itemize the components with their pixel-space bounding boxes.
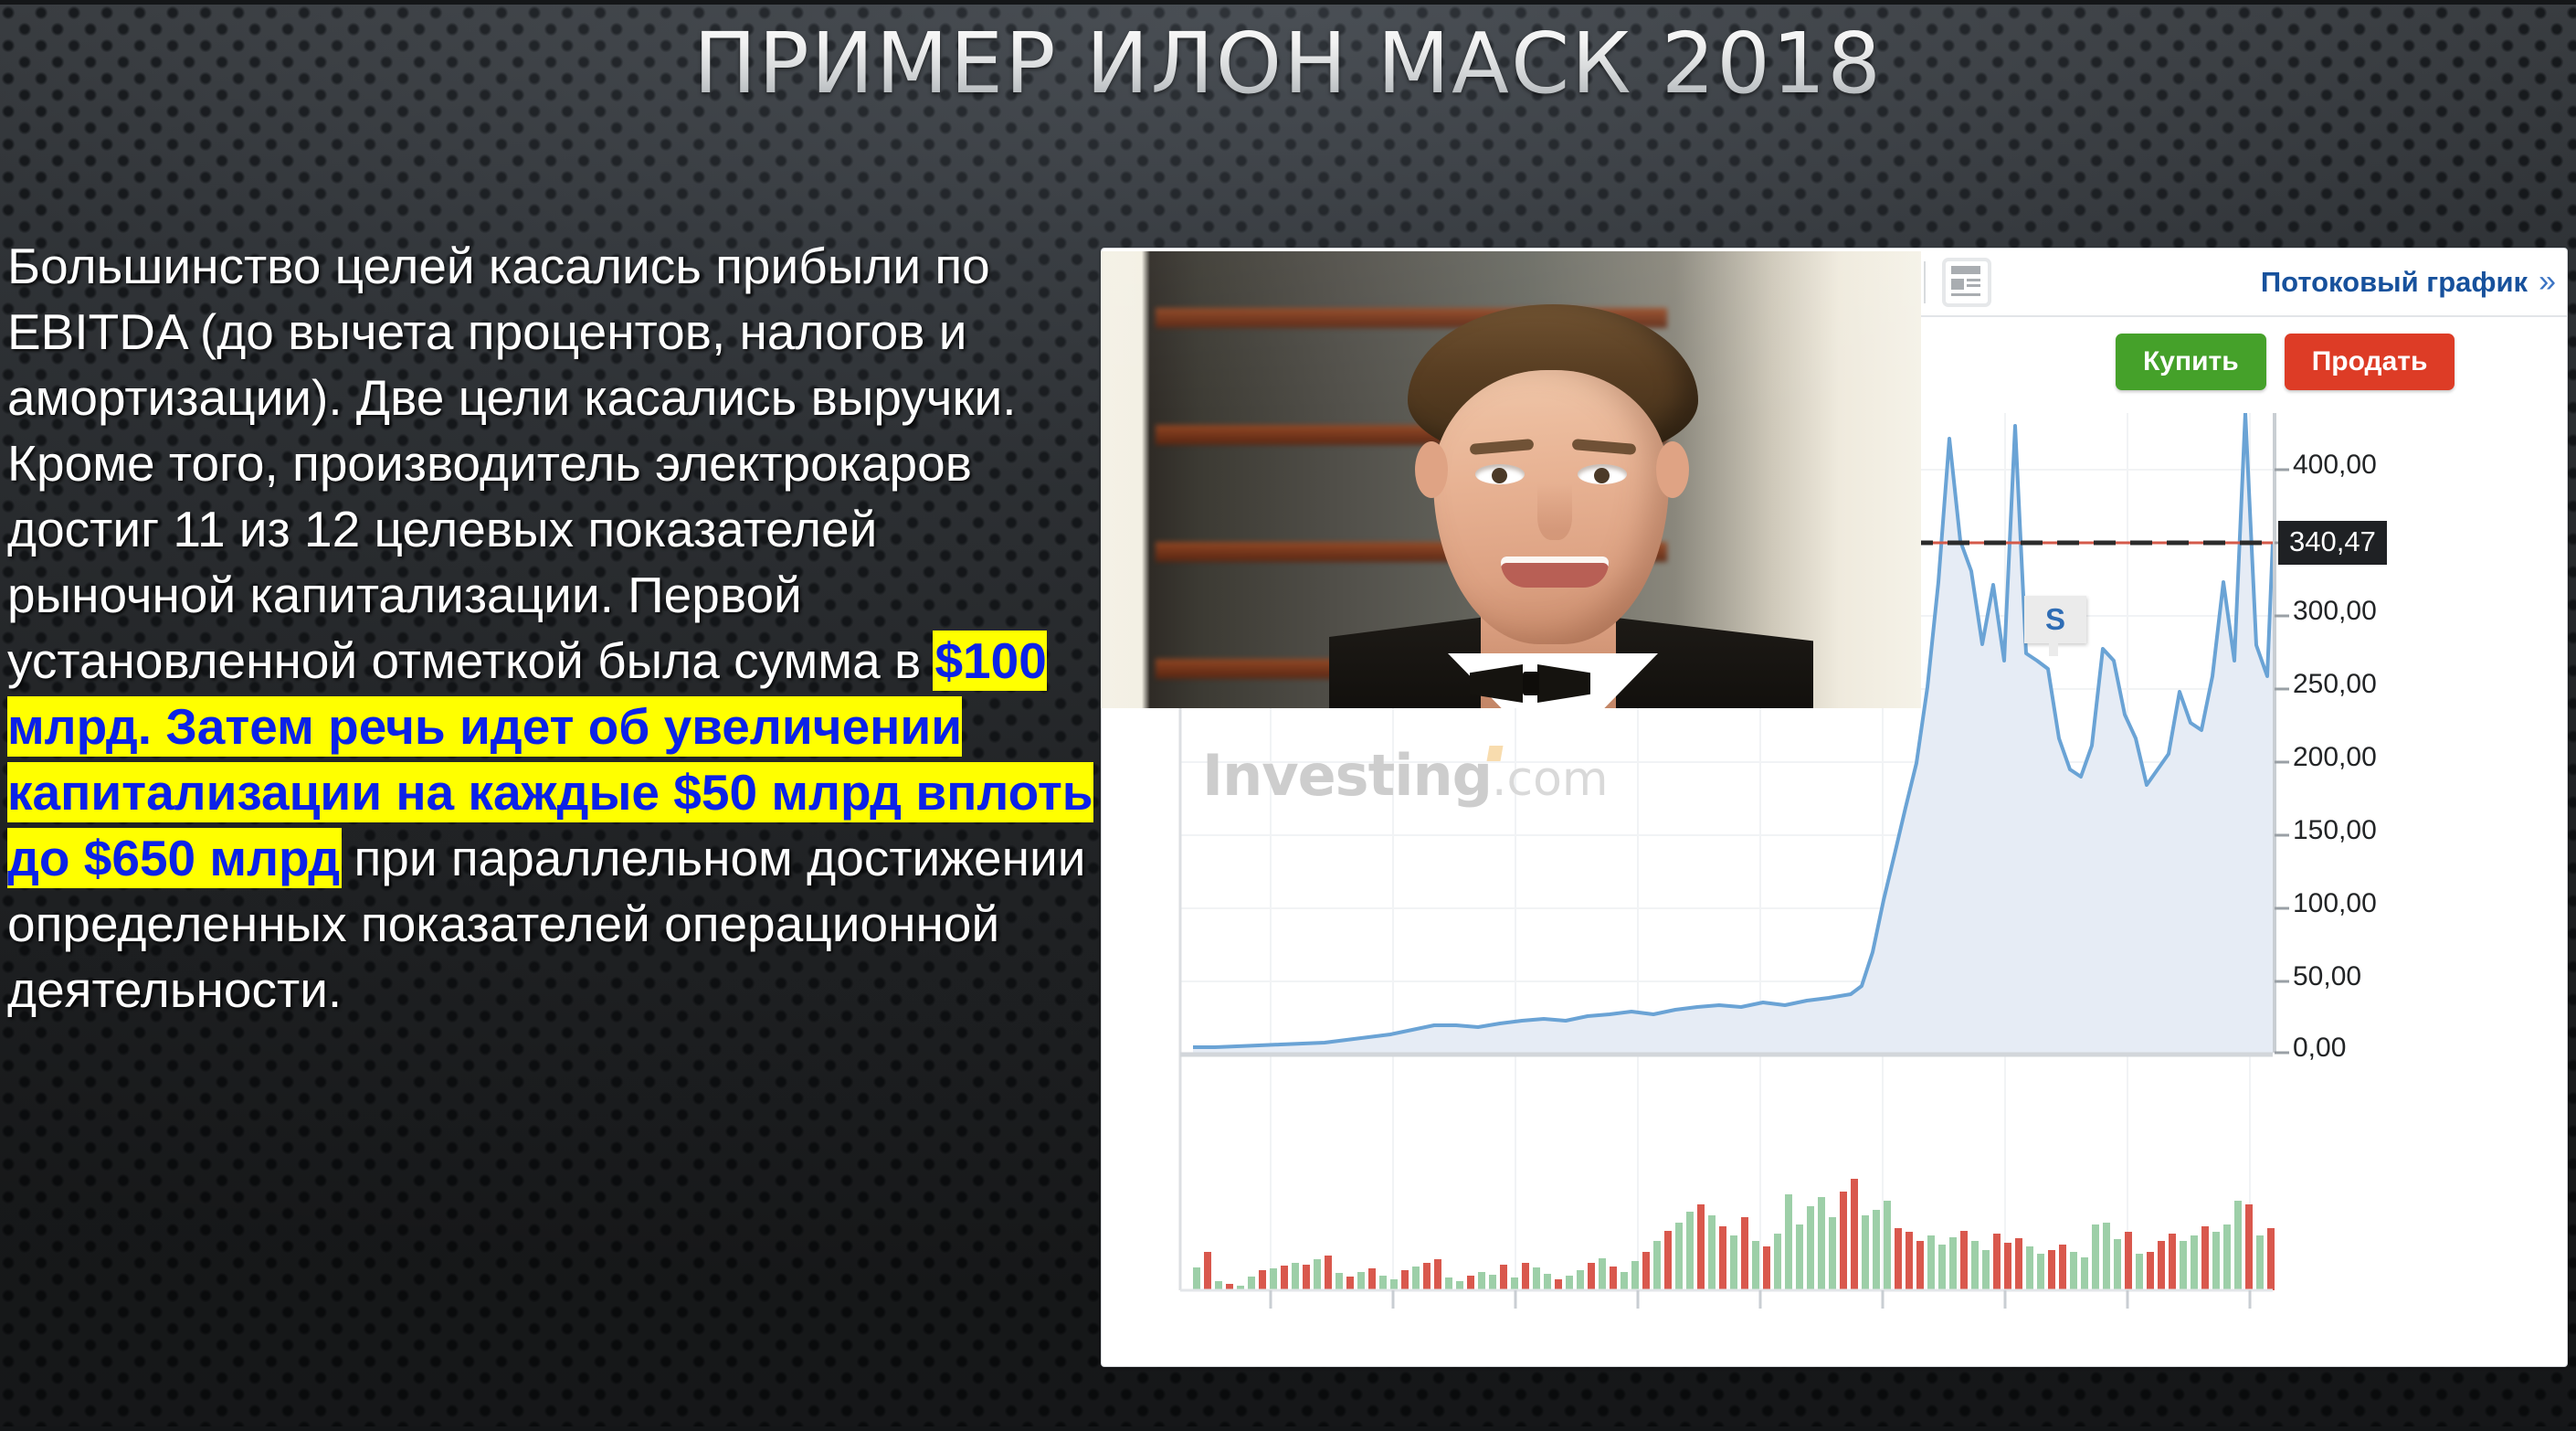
ear-right xyxy=(1656,441,1689,498)
eye-right xyxy=(1578,464,1627,484)
ear-left xyxy=(1415,441,1448,498)
body-segment-1: Большинство целей касались прибыли по EB… xyxy=(7,238,1017,689)
slide-root: ПРИМЕР ИЛОН МАСК 2018 Большинство целей … xyxy=(0,0,2576,1431)
y-axis-tick: 250,00 xyxy=(2293,669,2377,700)
streaming-chart-link[interactable]: Потоковый график » xyxy=(2261,264,2556,300)
buy-button[interactable]: Купить xyxy=(2116,334,2266,390)
y-axis-tick: 50,00 xyxy=(2293,961,2361,992)
eye-left xyxy=(1475,464,1525,484)
news-article-icon[interactable] xyxy=(1942,258,1991,307)
toolbar-divider xyxy=(1924,261,1926,303)
chart-toolbar: Потоковый график » xyxy=(1915,249,2568,317)
volume-bars xyxy=(1193,1179,2275,1290)
page-title: ПРИМЕР ИЛОН МАСК 2018 xyxy=(693,10,1883,118)
head xyxy=(1402,304,1704,661)
bowtie-knot xyxy=(1523,672,1539,695)
watermark-domain: .com xyxy=(1492,752,1609,807)
body-paragraph: Большинство целей касались прибыли по EB… xyxy=(7,233,1099,1023)
y-axis-tick: 300,00 xyxy=(2293,596,2377,627)
title-bar: ПРИМЕР ИЛОН МАСК 2018 xyxy=(0,10,2576,118)
mouth xyxy=(1501,556,1609,588)
nose xyxy=(1537,483,1572,540)
split-marker[interactable]: S xyxy=(2024,596,2086,643)
sell-button[interactable]: Продать xyxy=(2285,334,2455,390)
y-axis-tick: 400,00 xyxy=(2293,450,2377,481)
investing-watermark: Investing.com xyxy=(1202,742,1609,809)
watermark-i-dot xyxy=(1487,746,1504,761)
y-axis-tick: 0,00 xyxy=(2293,1033,2346,1064)
elon-musk-photo xyxy=(1101,251,1921,708)
last-price-badge: 340,47 xyxy=(2278,521,2387,565)
y-axis-tick: 100,00 xyxy=(2293,888,2377,919)
watermark-brand: Investing xyxy=(1202,742,1492,809)
streaming-chart-label: Потоковый график xyxy=(2261,266,2528,299)
y-axis-tick: 150,00 xyxy=(2293,815,2377,846)
y-axis-tick: 200,00 xyxy=(2293,742,2377,773)
chevron-double-right-icon: » xyxy=(2539,264,2556,300)
trade-buttons: Купить Продать xyxy=(2116,334,2455,390)
